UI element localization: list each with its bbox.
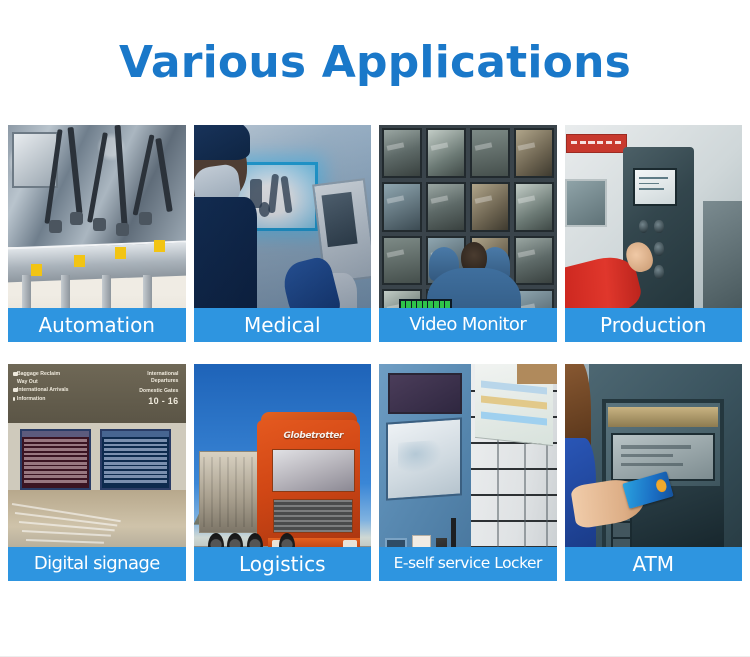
card-label-production: Production — [565, 308, 743, 342]
sign-intl-departures-line2: Departures — [139, 378, 178, 385]
application-card-atm[interactable]: ATM — [565, 364, 743, 581]
application-card-video-monitor[interactable]: Video Monitor — [379, 125, 557, 342]
application-card-automation[interactable]: Automation — [8, 125, 186, 342]
sign-way-out: Way Out — [17, 379, 69, 387]
card-label-atm: ATM — [565, 547, 743, 581]
flight-board-right — [100, 429, 171, 490]
truck-brand-text: Globetrotter — [273, 431, 353, 441]
card-label-automation: Automation — [8, 308, 186, 342]
sign-baggage-reclaim: Baggage Reclaim — [17, 371, 60, 377]
application-card-digital-signage[interactable]: Baggage Reclaim Way Out International Ar… — [8, 364, 186, 581]
sign-international-arrivals: International Arrivals — [17, 387, 69, 393]
sign-information: Information — [17, 396, 46, 402]
page-header: Various Applications — [0, 0, 750, 125]
applications-grid: Automation Medical — [0, 125, 750, 581]
sign-domestic-gates-range: 10 - 16 — [139, 395, 178, 408]
application-card-medical[interactable]: Medical — [194, 125, 372, 342]
card-label-video-monitor: Video Monitor — [379, 308, 557, 342]
card-label-locker: E-self service Locker — [379, 547, 557, 581]
applications-page: Various Applications Automation — [0, 0, 750, 657]
card-label-logistics: Logistics — [194, 547, 372, 581]
sign-intl-departures-line1: International — [139, 371, 178, 378]
flight-board-left — [20, 429, 91, 490]
card-label-digital-signage: Digital signage — [8, 547, 186, 581]
sign-domestic-gates-label: Domestic Gates — [139, 388, 178, 395]
application-card-logistics[interactable]: Globetrotter Logistics — [194, 364, 372, 581]
page-title: Various Applications — [119, 41, 631, 85]
wall-banner-icon — [566, 134, 626, 154]
card-label-medical: Medical — [194, 308, 372, 342]
application-card-production[interactable]: Production — [565, 125, 743, 342]
application-card-locker[interactable]: E-self service Locker — [379, 364, 557, 581]
